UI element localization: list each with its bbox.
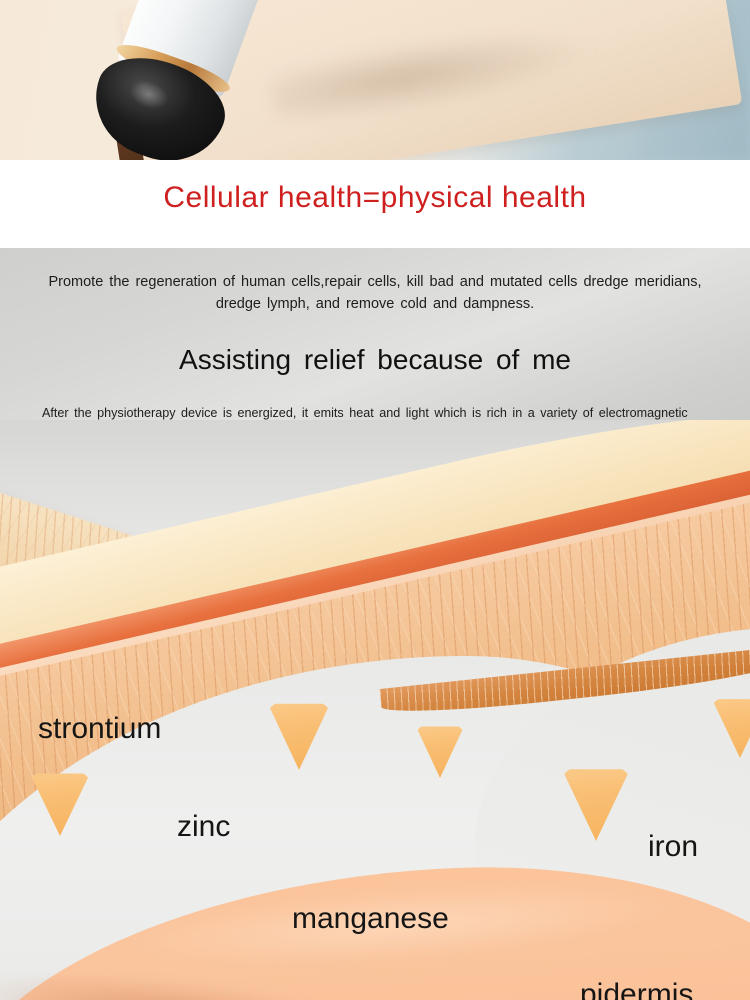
mineral-label-zinc: zinc <box>177 810 230 844</box>
product-infographic-page: Cellular health=physical health Promote … <box>0 0 750 1000</box>
title-band: Cellular health=physical health <box>0 160 750 248</box>
mineral-label-pidermis: pidermis <box>580 978 693 1000</box>
mineral-label-strontium: strontium <box>38 712 161 746</box>
mineral-label-iron: iron <box>648 830 698 864</box>
section-subheading: Assisting relief because of me <box>0 344 750 376</box>
benefits-paragraph: Promote the regeneration of human cells,… <box>25 271 725 315</box>
page-title: Cellular health=physical health <box>0 181 750 215</box>
mineral-label-manganese: manganese <box>292 902 449 936</box>
hero-product-photo <box>0 0 750 160</box>
